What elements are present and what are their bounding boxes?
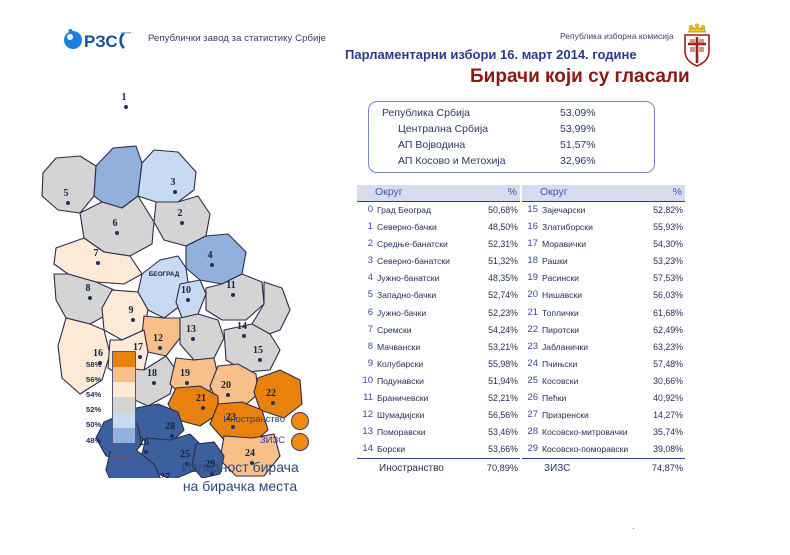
legend-tick: 50%: [86, 420, 101, 429]
row-district-name: Сремски: [377, 325, 412, 335]
column-header-percent: %: [673, 186, 682, 198]
row-district-name: Косовски: [542, 376, 578, 386]
table-row: 1Северно-бачки48,50%: [357, 219, 520, 236]
row-district-name: Шумадијски: [377, 410, 424, 420]
row-district-name: Колубарски: [377, 359, 423, 369]
row-index: 27: [522, 409, 538, 420]
legend-circle-inostranstvo: [291, 412, 309, 430]
district-area-13: [180, 314, 224, 360]
district-label-28: 28: [165, 421, 175, 432]
table-row: 16Златиборски55,93%: [522, 219, 685, 236]
row-index: 5: [357, 289, 373, 300]
row-index: 24: [522, 358, 538, 369]
district-dot-28: [170, 434, 174, 438]
row-percent: 54,30%: [653, 239, 683, 249]
row-district-name: Пчињски: [542, 359, 577, 369]
row-index: 4: [357, 272, 373, 283]
district-label-13: 13: [186, 324, 196, 335]
row-district-name: Моравички: [542, 239, 586, 249]
legend-tick: 48%: [86, 436, 101, 445]
district-label-12: 12: [153, 333, 163, 344]
table-row: 20Нишавски56,03%: [522, 287, 685, 304]
footer-label: Иностранство: [379, 463, 444, 474]
row-percent: 54,24%: [488, 325, 518, 335]
district-label-1: 1: [122, 92, 127, 103]
district-label-14: 14: [237, 321, 247, 332]
row-index: 1: [357, 221, 373, 232]
table-row: 2Средње-банатски52,31%: [357, 236, 520, 253]
row-index: 21: [522, 307, 538, 318]
summary-value: 51,57%: [560, 139, 596, 151]
rik-caption: Република изборна комисија: [560, 31, 674, 41]
legend-tick: 56%: [86, 375, 101, 384]
district-label-7: 7: [94, 248, 99, 259]
row-index: 23: [522, 341, 538, 352]
footer-value: 74,87%: [652, 463, 683, 473]
district-dot-23: [231, 425, 235, 429]
row-district-name: Топлички: [542, 308, 579, 318]
summary-label: АП Војводина: [398, 139, 465, 151]
table-row: 28Косовско-митровачки35,74%: [522, 424, 685, 441]
district-label-22: 22: [266, 388, 276, 399]
row-district-name: Јужно-банатски: [377, 273, 439, 283]
district-dot-5: [66, 201, 70, 205]
district-label-10: 10: [181, 285, 191, 296]
map-caption-line2: на бирачка места: [140, 477, 340, 496]
district-dot-19: [185, 381, 189, 385]
row-district-name: Пећки: [542, 393, 566, 403]
row-percent: 57,53%: [653, 273, 683, 283]
summary-row: АП Војводина 51,57%: [368, 139, 653, 156]
legend-band: [113, 352, 135, 367]
svg-text:РЗС: РЗС: [84, 32, 118, 51]
table-row: 5Западно-бачки52,74%: [357, 287, 520, 304]
table-row: 26Пећки40,92%: [522, 390, 685, 407]
district-dot-13: [191, 337, 195, 341]
row-district-name: Град Београд: [377, 205, 431, 215]
row-district-name: Борски: [377, 444, 405, 454]
table-row: 24Пчињски57,48%: [522, 356, 685, 373]
row-percent: 53,66%: [488, 444, 518, 454]
district-dot-15: [258, 358, 262, 362]
column-header-percent: %: [508, 186, 517, 198]
row-index: 29: [522, 443, 538, 454]
footer-label: ЗИЗС: [544, 463, 570, 474]
row-district-name: Нишавски: [542, 290, 582, 300]
district-label-4: 4: [208, 250, 213, 261]
row-percent: 62,49%: [653, 325, 683, 335]
row-percent: 14,27%: [653, 410, 683, 420]
row-district-name: Браничевски: [377, 393, 428, 403]
districts-table-left: Округ % 0Град Београд50,68%1Северно-бачк…: [357, 185, 520, 478]
row-index: 19: [522, 272, 538, 283]
district-dot-18: [152, 381, 156, 385]
legend-band: [113, 443, 135, 458]
row-percent: 52,82%: [653, 205, 683, 215]
district-label-9: 9: [129, 305, 134, 316]
district-label-11: 11: [226, 280, 235, 291]
legend-tick: 52%: [86, 405, 101, 414]
row-percent: 35,74%: [653, 427, 683, 437]
row-district-name: Подунавски: [377, 376, 424, 386]
row-percent: 52,23%: [488, 308, 518, 318]
legend-band: [113, 367, 135, 382]
row-district-name: Призренски: [542, 410, 589, 420]
summary-row: Централна Србија 53,99%: [368, 123, 653, 140]
district-dot-9: [131, 318, 135, 322]
table-row: 27Призренски14,27%: [522, 407, 685, 424]
summary-label: АП Косово и Метохија: [398, 155, 506, 167]
rzs-caption: Републички завод за статистику Србије: [148, 33, 326, 44]
row-district-name: Јужно-бачки: [377, 308, 426, 318]
district-label-20: 20: [221, 380, 231, 391]
election-title: Парламентарни избори 16. март 2014. годи…: [345, 47, 637, 62]
row-percent: 56,56%: [488, 410, 518, 420]
column-header-district: Округ: [375, 186, 403, 198]
legend-tick: 58%: [86, 360, 101, 369]
table-row: 9Колубарски55,98%: [357, 356, 520, 373]
legend-label-inostranstvo: Иностранство: [210, 414, 285, 425]
color-scale-legend: [112, 351, 136, 459]
summary-value: 32,96%: [560, 155, 596, 167]
summary-row: АП Косово и Метохија 32,96%: [368, 155, 653, 172]
row-district-name: Златиборски: [542, 222, 593, 232]
legend-label-zizs: ЗИЗС: [210, 435, 285, 446]
table-row: 4Јужно-банатски48,35%: [357, 270, 520, 287]
column-header-district: Округ: [540, 186, 568, 198]
row-district-name: Средње-банатски: [377, 239, 448, 249]
row-percent: 52,31%: [488, 239, 518, 249]
row-percent: 48,35%: [488, 273, 518, 283]
table-header-row: Округ %: [357, 185, 520, 202]
district-label-15: 15: [253, 345, 263, 356]
row-index: 25: [522, 375, 538, 386]
table-row: 25Косовски30,66%: [522, 373, 685, 390]
summary-row: Република Србија 53,09%: [368, 107, 653, 124]
row-index: 6: [357, 307, 373, 318]
table-row: 6Јужно-бачки52,23%: [357, 305, 520, 322]
row-index: 14: [357, 443, 373, 454]
row-index: 16: [522, 221, 538, 232]
district-dot-2: [180, 221, 184, 225]
row-index: 12: [357, 409, 373, 420]
row-district-name: Северно-банатски: [377, 256, 450, 266]
row-percent: 39,08%: [653, 444, 683, 454]
table-row: 19Расински57,53%: [522, 270, 685, 287]
table-row: 18Рашки53,23%: [522, 253, 685, 270]
row-index: 3: [357, 255, 373, 266]
table-row: 22Пиротски62,49%: [522, 322, 685, 339]
district-label-16: 16: [93, 348, 103, 359]
row-percent: 61,68%: [653, 308, 683, 318]
table-row: 3Северно-банатски51,32%: [357, 253, 520, 270]
row-percent: 53,21%: [488, 342, 518, 352]
district-dot-20: [226, 393, 230, 397]
row-district-name: Косовско-поморавски: [542, 444, 628, 454]
row-index: 0: [357, 204, 373, 215]
table-row: 17Моравички54,30%: [522, 236, 685, 253]
row-percent: 53,46%: [488, 427, 518, 437]
table-row: 12Шумадијски56,56%: [357, 407, 520, 424]
district-dot-3: [173, 190, 177, 194]
row-district-name: Северно-бачки: [377, 222, 437, 232]
district-label-8: 8: [86, 283, 91, 294]
row-percent: 52,74%: [488, 290, 518, 300]
row-index: 26: [522, 392, 538, 403]
footer-value: 70,89%: [487, 463, 518, 473]
table-row: 29Косовско-поморавски39,08%: [522, 441, 685, 458]
row-index: 15: [522, 204, 538, 215]
districts-table-right: Округ % 15Зајечарски52,82%16Златиборски5…: [522, 185, 685, 478]
legend-band: [113, 382, 135, 397]
footer-mark: .: [632, 521, 635, 531]
capital-label: БЕОГРАД: [149, 271, 180, 278]
district-dot-11: [231, 293, 235, 297]
table-row: 11Браничевски52,21%: [357, 390, 520, 407]
row-district-name: Мачвански: [377, 342, 420, 352]
legend-band: [113, 413, 135, 428]
district-dot-17: [138, 355, 142, 359]
row-index: 10: [357, 375, 373, 386]
table-row: 21Топлички61,68%: [522, 305, 685, 322]
district-dot-1: [124, 105, 128, 109]
row-index: 13: [357, 426, 373, 437]
row-percent: 30,66%: [653, 376, 683, 386]
map-caption: Излазност бирача на бирачка места: [140, 458, 340, 496]
row-district-name: Зајечарски: [542, 205, 585, 215]
row-percent: 51,32%: [488, 256, 518, 266]
summary-value: 53,99%: [560, 123, 596, 135]
table-row: 15Зајечарски52,82%: [522, 202, 685, 219]
table-row: 7Сремски54,24%: [357, 322, 520, 339]
district-dot-6: [115, 231, 119, 235]
row-percent: 55,98%: [488, 359, 518, 369]
row-district-name: Расински: [542, 273, 579, 283]
row-percent: 56,03%: [653, 290, 683, 300]
summary-label: Централна Србија: [398, 123, 488, 135]
district-dot-8: [88, 296, 92, 300]
row-index: 9: [357, 358, 373, 369]
table-header-row: Округ %: [522, 185, 685, 202]
district-label-21: 21: [196, 393, 206, 404]
row-district-name: Западно-бачки: [377, 290, 436, 300]
district-dot-22: [271, 401, 275, 405]
summary-label: Република Србија: [382, 107, 470, 119]
district-label-2: 2: [178, 208, 183, 219]
page-title: Бирачи који су гласали: [470, 66, 690, 88]
table-row: 23Јабланички63,23%: [522, 339, 685, 356]
district-label-26: 26: [139, 437, 149, 448]
district-dot-4: [210, 263, 214, 267]
summary-value: 53,09%: [560, 107, 596, 119]
row-district-name: Поморавски: [377, 427, 426, 437]
row-index: 11: [357, 392, 373, 403]
row-percent: 52,21%: [488, 393, 518, 403]
row-district-name: Пиротски: [542, 325, 579, 335]
district-dot-26: [144, 450, 148, 454]
serbia-coat-of-arms-icon: [678, 22, 716, 68]
legend-circle-zizs: [291, 433, 309, 451]
row-percent: 48,50%: [488, 222, 518, 232]
district-dot-21: [201, 406, 205, 410]
table-row: 14Борски53,66%: [357, 441, 520, 458]
row-index: 22: [522, 324, 538, 335]
row-index: 8: [357, 341, 373, 352]
district-label-5: 5: [64, 188, 69, 199]
district-dot-10: [186, 298, 190, 302]
district-label-18: 18: [147, 368, 157, 379]
row-index: 20: [522, 289, 538, 300]
row-index: 18: [522, 255, 538, 266]
row-district-name: Косовско-митровачки: [542, 427, 628, 437]
row-percent: 55,93%: [653, 222, 683, 232]
table-footer-row: ЗИЗС 74,87%: [522, 458, 685, 478]
district-area-3: [138, 150, 196, 202]
row-index: 7: [357, 324, 373, 335]
district-dot-7: [96, 261, 100, 265]
row-district-name: Рашки: [542, 256, 568, 266]
legend-tick: 54%: [86, 390, 101, 399]
row-percent: 57,48%: [653, 359, 683, 369]
district-label-3: 3: [171, 177, 176, 188]
legend-band: [113, 428, 135, 443]
row-percent: 53,23%: [653, 256, 683, 266]
table-row: 13Поморавски53,46%: [357, 424, 520, 441]
row-percent: 50,68%: [488, 205, 518, 215]
table-row: 10Подунавски51,94%: [357, 373, 520, 390]
row-district-name: Јабланички: [542, 342, 588, 352]
district-label-6: 6: [113, 218, 118, 229]
row-index: 28: [522, 426, 538, 437]
row-index: 17: [522, 238, 538, 249]
district-label-19: 19: [180, 368, 190, 379]
rzs-logo: РЗС: [62, 27, 142, 53]
table-row: 8Мачвански53,21%: [357, 339, 520, 356]
legend-band: [113, 397, 135, 412]
map-caption-line1: Излазност бирача: [140, 458, 340, 477]
table-row: 0Град Београд50,68%: [357, 202, 520, 219]
row-index: 2: [357, 238, 373, 249]
table-footer-row: Иностранство 70,89%: [357, 458, 520, 478]
row-percent: 40,92%: [653, 393, 683, 403]
row-percent: 51,94%: [488, 376, 518, 386]
district-dot-12: [158, 346, 162, 350]
row-percent: 63,23%: [653, 342, 683, 352]
district-dot-14: [242, 334, 246, 338]
